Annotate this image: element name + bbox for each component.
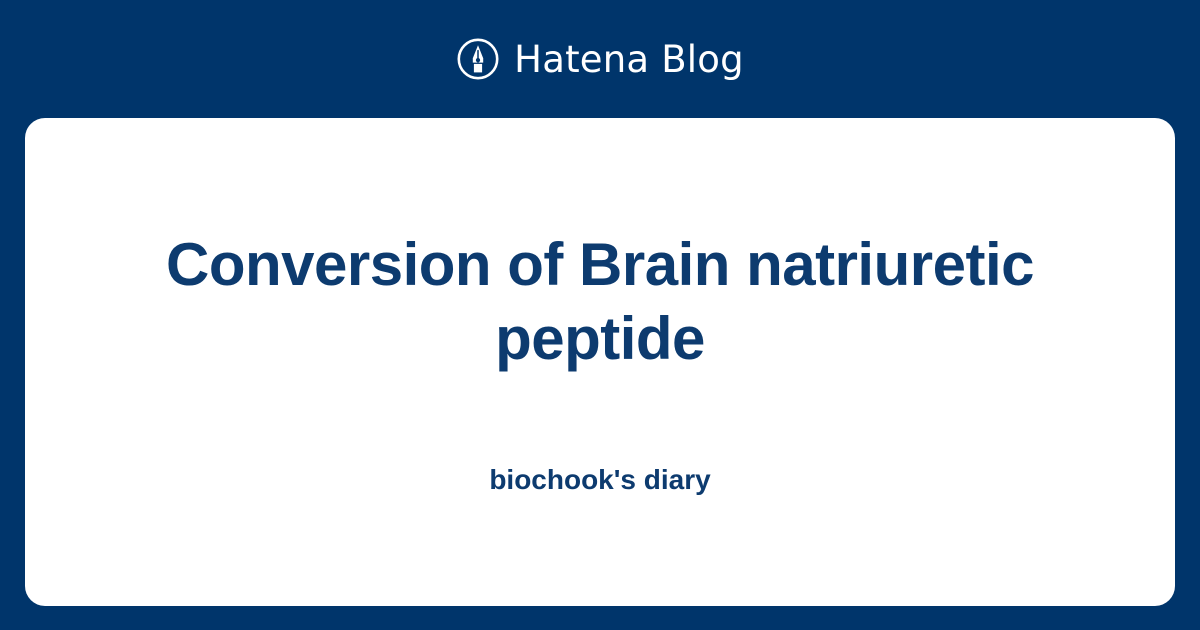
hatena-pen-nib-icon (456, 37, 500, 81)
og-image-canvas: Hatena Blog Conversion of Brain natriure… (0, 0, 1200, 630)
blog-name-label: biochook's diary (489, 463, 710, 497)
entry-title: Conversion of Brain natriuretic peptide (150, 228, 1050, 377)
brand-name-label: Hatena Blog (514, 41, 744, 78)
brand-header: Hatena Blog (0, 0, 1200, 118)
entry-card: Conversion of Brain natriuretic peptide … (25, 118, 1175, 606)
